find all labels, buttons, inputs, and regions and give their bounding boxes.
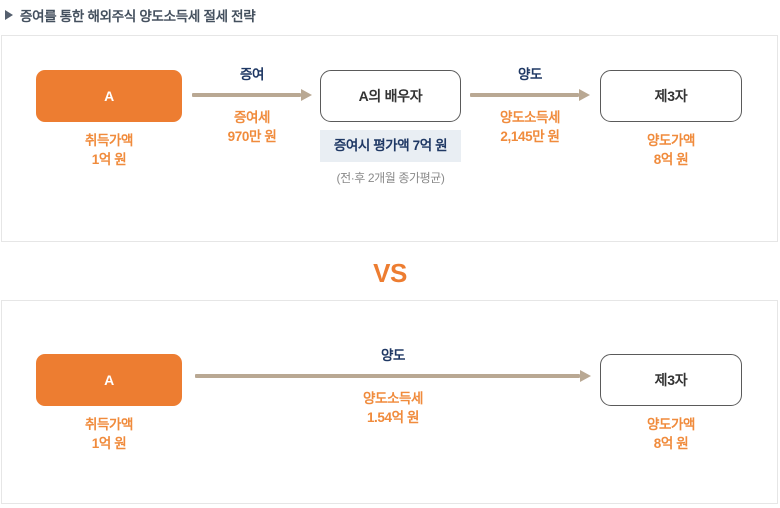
tax-value: 2,145만 원: [470, 127, 590, 146]
tax-label: 양도소득세: [500, 110, 560, 125]
arrow-right-icon-gift: [192, 90, 312, 100]
tax-value: 970만 원: [192, 127, 312, 146]
arrow-shaft: [470, 93, 579, 97]
valuation-note-spouse: (전·후 2개월 종가평균): [320, 169, 461, 186]
versus-separator: VS: [0, 252, 780, 294]
caption-value: 1억 원: [36, 434, 182, 453]
arrow-head: [579, 89, 590, 101]
caption-label: 취득가액: [85, 133, 133, 148]
caption-value: 1억 원: [36, 150, 182, 169]
node-box-person-spouse: A의 배우자: [320, 70, 461, 122]
node-person-third-party-bottom: 제3자 양도가액 8억 원: [600, 354, 742, 453]
arrow-head: [580, 370, 591, 382]
caption-label: 양도가액: [647, 133, 695, 148]
flow-tax-transfer-top: 양도소득세 2,145만 원: [470, 108, 590, 146]
arrow-shaft: [192, 93, 301, 97]
flow-gift: 증여 증여세 970만 원: [192, 66, 312, 146]
node-box-person-third-party-top: 제3자: [600, 70, 742, 122]
flow-transfer-bottom: 양도 양도소득세 1.54억 원: [195, 347, 591, 427]
tax-label: 양도소득세: [363, 391, 423, 406]
node-person-third-party-top: 제3자 양도가액 8억 원: [600, 70, 742, 169]
flow-tax-transfer-bottom: 양도소득세 1.54억 원: [195, 389, 591, 427]
flow-label-gift: 증여: [192, 66, 312, 84]
flow-transfer-top: 양도 양도소득세 2,145만 원: [470, 66, 590, 146]
node-caption-acquisition-price-bottom: 취득가액 1억 원: [36, 415, 182, 453]
flow-label-transfer-bottom: 양도: [195, 347, 591, 365]
node-person-a-bottom: A 취득가액 1억 원: [36, 354, 182, 453]
tax-label: 증여세: [234, 110, 270, 125]
caption-value: 8억 원: [600, 150, 742, 169]
triangle-right-icon: [5, 10, 13, 20]
arrow-shaft: [195, 374, 580, 378]
caption-value: 8억 원: [600, 434, 742, 453]
chip-value: 7억 원: [413, 138, 448, 153]
arrow-right-icon-transfer-bottom: [195, 371, 591, 381]
node-caption-transfer-price-bottom: 양도가액 8억 원: [600, 415, 742, 453]
arrow-right-icon-transfer-top: [470, 90, 590, 100]
node-box-person-a-bottom: A: [36, 354, 182, 406]
node-caption-acquisition-price-top: 취득가액 1억 원: [36, 131, 182, 169]
versus-label: VS: [373, 258, 407, 289]
flow-tax-gift: 증여세 970만 원: [192, 108, 312, 146]
tax-value: 1.54억 원: [195, 408, 591, 427]
node-box-person-a-top: A: [36, 70, 182, 122]
arrow-head: [301, 89, 312, 101]
node-caption-transfer-price-top: 양도가액 8억 원: [600, 131, 742, 169]
flow-label-transfer-top: 양도: [470, 66, 590, 84]
caption-label: 취득가액: [85, 417, 133, 432]
node-person-a-top: A 취득가액 1억 원: [36, 70, 182, 169]
page-title-bar: 증여를 통한 해외주식 양도소득세 절세 전략: [0, 0, 780, 30]
chip-label: 증여시 평가액: [334, 138, 409, 153]
caption-label: 양도가액: [647, 417, 695, 432]
node-person-spouse: A의 배우자 증여시 평가액 7억 원 (전·후 2개월 종가평균): [320, 70, 461, 186]
page-title: 증여를 통한 해외주식 양도소득세 절세 전략: [20, 5, 255, 25]
valuation-chip-spouse: 증여시 평가액 7억 원: [320, 130, 461, 162]
node-box-person-third-party-bottom: 제3자: [600, 354, 742, 406]
